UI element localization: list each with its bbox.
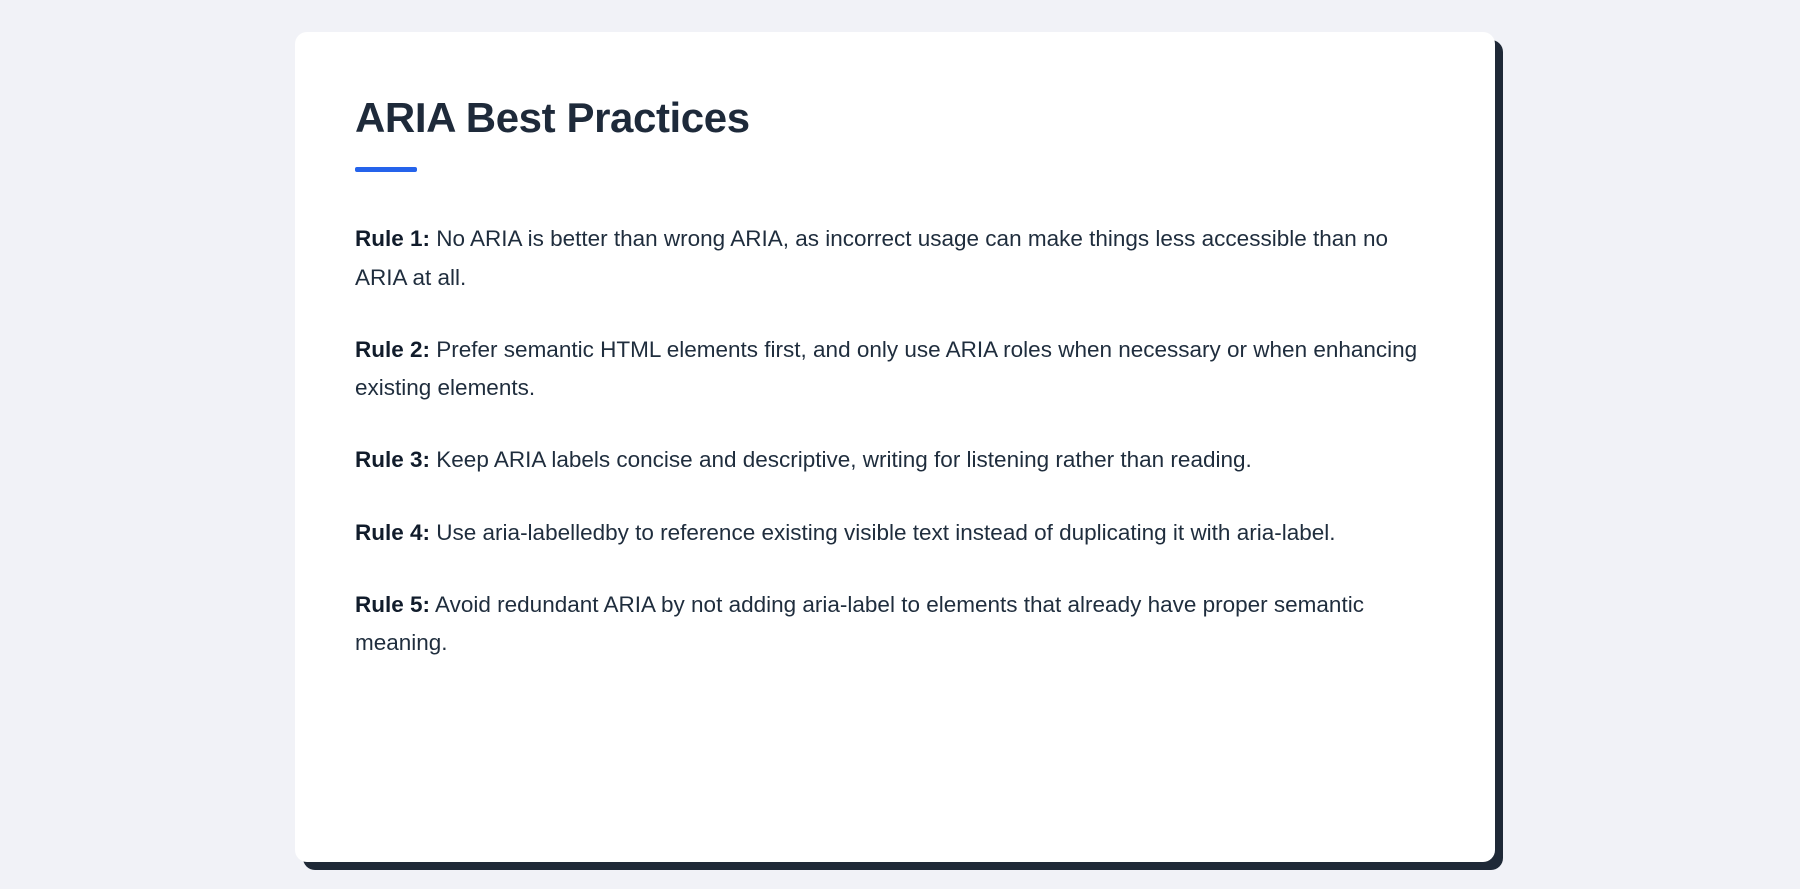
rule-label: Rule 5: — [355, 592, 430, 617]
rule-label: Rule 3: — [355, 447, 430, 472]
rule-item: Rule 2: Prefer semantic HTML elements fi… — [355, 331, 1433, 408]
page-root: ARIA Best Practices Rule 1: No ARIA is b… — [0, 0, 1800, 889]
rule-label: Rule 2: — [355, 337, 430, 362]
rule-label: Rule 1: — [355, 226, 430, 251]
rules-list: Rule 1: No ARIA is better than wrong ARI… — [355, 220, 1433, 662]
rule-text: Avoid redundant ARIA by not adding aria-… — [355, 592, 1364, 655]
page-title: ARIA Best Practices — [355, 94, 1433, 142]
rule-text: Keep ARIA labels concise and descriptive… — [436, 447, 1251, 472]
rule-item: Rule 1: No ARIA is better than wrong ARI… — [355, 220, 1433, 297]
rule-item: Rule 5: Avoid redundant ARIA by not addi… — [355, 586, 1433, 663]
rule-text: Use aria-labelledby to reference existin… — [436, 520, 1335, 545]
rule-label: Rule 4: — [355, 520, 430, 545]
rule-text: Prefer semantic HTML elements first, and… — [355, 337, 1417, 400]
rule-item: Rule 3: Keep ARIA labels concise and des… — [355, 441, 1433, 479]
title-accent-bar — [355, 167, 417, 172]
rule-text: No ARIA is better than wrong ARIA, as in… — [355, 226, 1388, 289]
rule-item: Rule 4: Use aria-labelledby to reference… — [355, 514, 1433, 552]
aria-best-practices-card: ARIA Best Practices Rule 1: No ARIA is b… — [295, 32, 1495, 862]
